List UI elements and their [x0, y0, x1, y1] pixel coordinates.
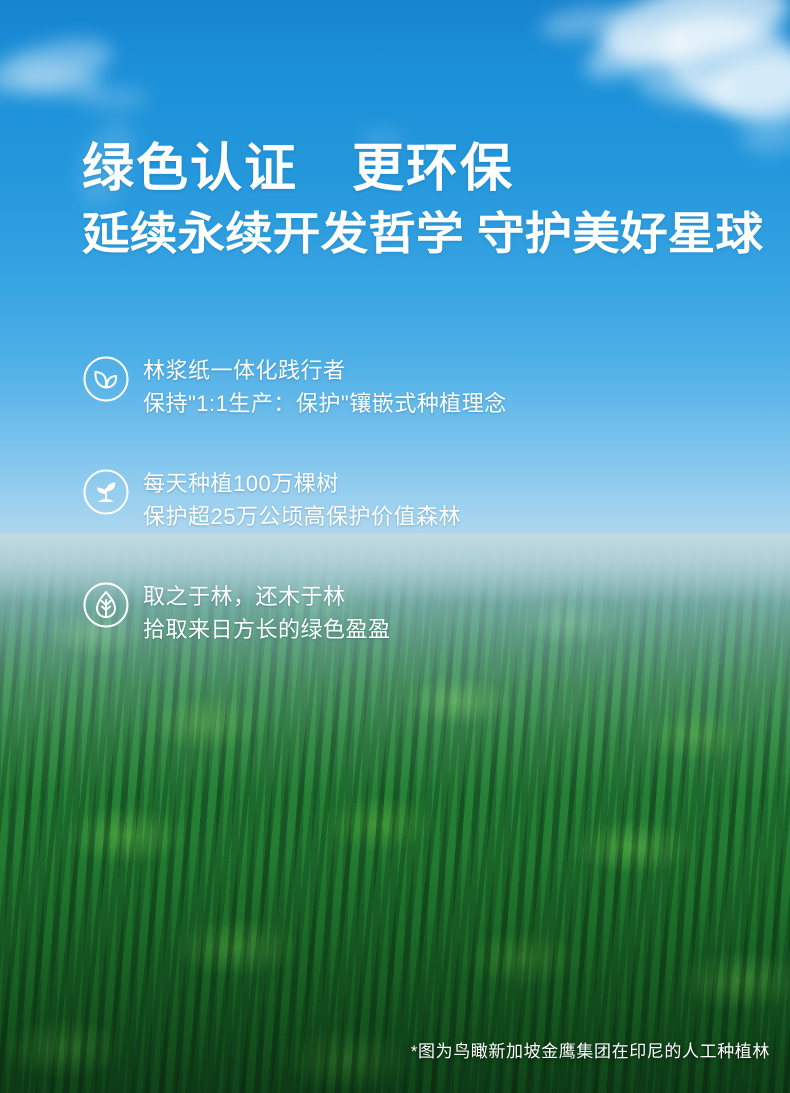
feature-list: 林浆纸一体化践行者 保持"1:1生产：保护"镶嵌式种植理念 每天种植1	[82, 352, 722, 647]
feature-line-primary: 每天种植100万棵树	[143, 471, 339, 496]
headline-block: 绿色认证 更环保 延续永续开发哲学 守护美好星球	[82, 142, 725, 259]
two-leaves-in-circle-icon	[82, 355, 130, 403]
feature-line-primary: 取之于林，还木于林	[143, 584, 346, 609]
feature-line-primary: 林浆纸一体化践行者	[143, 358, 346, 383]
list-item: 林浆纸一体化践行者 保持"1:1生产：保护"镶嵌式种植理念	[82, 352, 722, 421]
poster-content: 绿色认证 更环保 延续永续开发哲学 守护美好星球 林浆纸一体化践行者 保持"1:…	[0, 0, 790, 1093]
feature-line-secondary: 拾取来日方长的绿色盈盈	[143, 617, 391, 642]
feature-line-secondary: 保持"1:1生产：保护"镶嵌式种植理念	[143, 391, 507, 416]
feature-line-secondary: 保护超25万公顷高保护价值森林	[143, 504, 461, 529]
list-item-text: 每天种植100万棵树 保护超25万公顷高保护价值森林	[143, 465, 461, 534]
list-item: 每天种植100万棵树 保护超25万公顷高保护价值森林	[82, 465, 722, 534]
leaf-droplet-in-circle-icon	[82, 581, 130, 629]
page-subtitle: 延续永续开发哲学 守护美好星球	[82, 209, 763, 259]
promo-poster: 绿色认证 更环保 延续永续开发哲学 守护美好星球 林浆纸一体化践行者 保持"1:…	[0, 0, 790, 1093]
page-title: 绿色认证 更环保	[82, 142, 725, 197]
list-item: 取之于林，还木于林 拾取来日方长的绿色盈盈	[82, 578, 722, 647]
list-item-text: 取之于林，还木于林 拾取来日方长的绿色盈盈	[143, 578, 391, 647]
sprout-in-circle-icon	[82, 468, 130, 516]
list-item-text: 林浆纸一体化践行者 保持"1:1生产：保护"镶嵌式种植理念	[143, 352, 507, 421]
image-caption: *图为鸟瞰新加坡金鹰集团在印尼的人工种植林	[411, 1037, 770, 1062]
